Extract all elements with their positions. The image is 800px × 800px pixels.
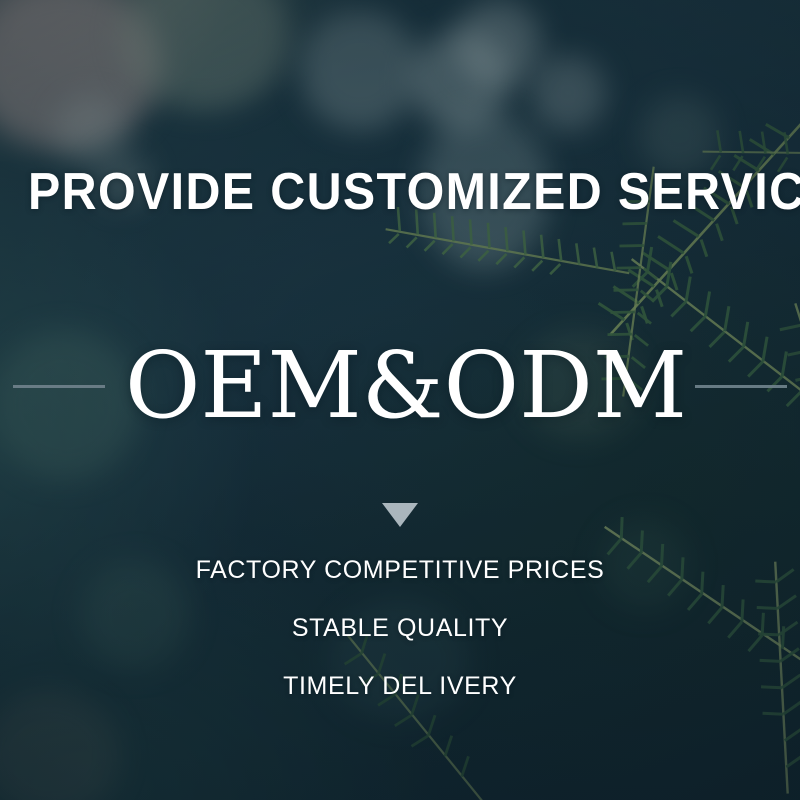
brand-row: OEM&ODM <box>0 338 800 434</box>
triangle-down-icon <box>382 503 418 527</box>
list-item: TIMELY DEL IVERY <box>0 674 800 699</box>
promo-banner: PROVIDE CUSTOMIZED SERVICE OEM&ODM FACTO… <box>0 0 800 800</box>
brand-name: OEM&ODM <box>125 340 687 432</box>
page-title: PROVIDE CUSTOMIZED SERVICE <box>28 166 772 218</box>
banner-content: PROVIDE CUSTOMIZED SERVICE OEM&ODM FACTO… <box>0 0 800 800</box>
list-item: STABLE QUALITY <box>0 616 800 641</box>
selling-points-list: FACTORY COMPETITIVE PRICES STABLE QUALIT… <box>0 558 800 699</box>
list-item: FACTORY COMPETITIVE PRICES <box>0 558 800 583</box>
horizontal-rule-left-icon <box>13 385 105 388</box>
horizontal-rule-right-icon <box>695 385 787 388</box>
